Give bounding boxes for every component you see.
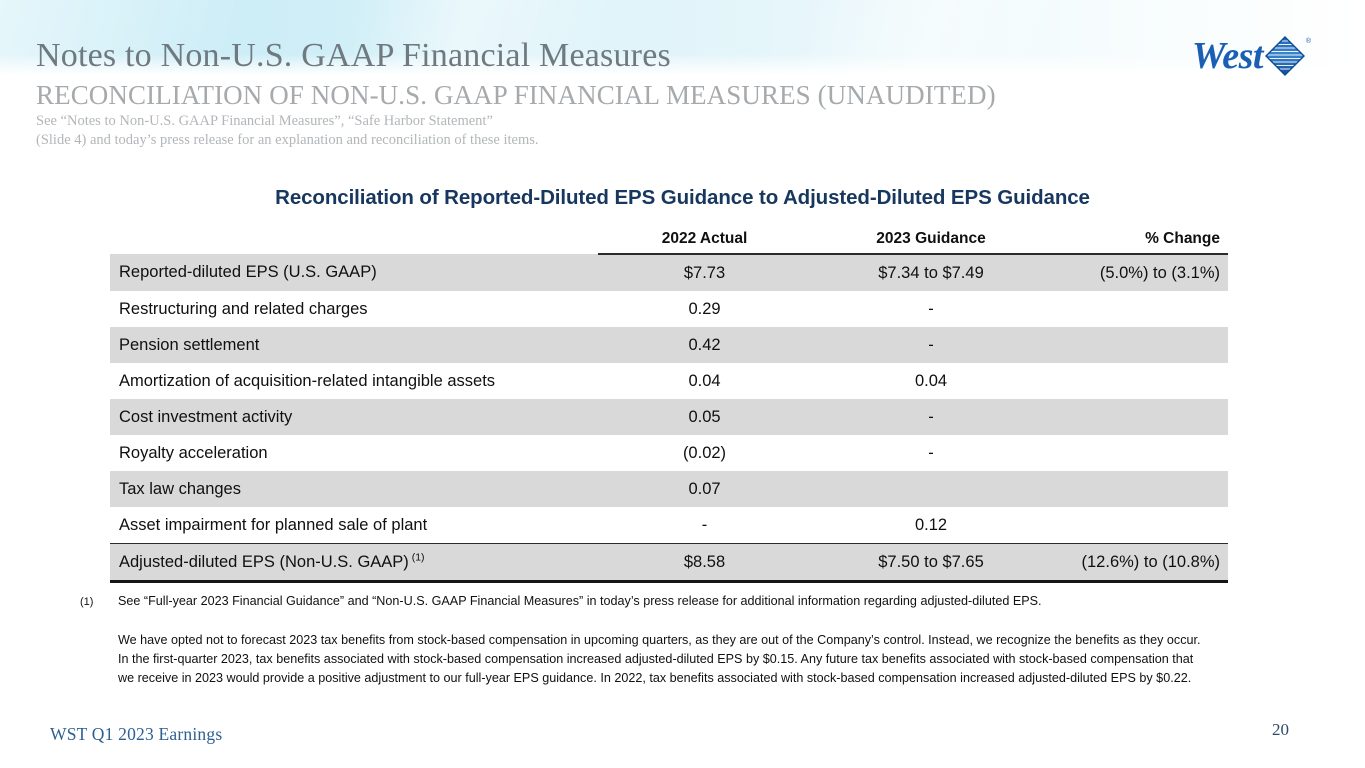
row-label: Restructuring and related charges — [110, 291, 598, 327]
cell-2022-actual: 0.42 — [598, 327, 811, 363]
table-row: Amortization of acquisition-related inta… — [110, 363, 1228, 399]
table-body: Reported-diluted EPS (U.S. GAAP)$7.73$7.… — [110, 254, 1228, 582]
cell-pct-change — [1051, 435, 1228, 471]
cell-2022-actual: 0.04 — [598, 363, 811, 399]
logo-wordmark: West — [1192, 37, 1263, 75]
cell-2022-actual: - — [598, 507, 811, 544]
page-subtitle: RECONCILIATION OF NON-U.S. GAAP FINANCIA… — [36, 80, 996, 110]
table-row: Tax law changes0.07 — [110, 471, 1228, 507]
diamond-icon — [1265, 36, 1305, 76]
table-row: Pension settlement0.42- — [110, 327, 1228, 363]
cell-2023-guidance — [811, 471, 1051, 507]
footnote-marker: (1) — [80, 592, 118, 612]
row-label: Cost investment activity — [110, 399, 598, 435]
column-header-2022-actual: 2022 Actual — [598, 226, 811, 254]
table-row: Restructuring and related charges0.29- — [110, 291, 1228, 327]
cell-2023-guidance: - — [811, 399, 1051, 435]
cell-pct-change — [1051, 399, 1228, 435]
footnote-row: (1) See “Full-year 2023 Financial Guidan… — [80, 592, 1240, 612]
row-label: Royalty acceleration — [110, 435, 598, 471]
row-label: Asset impairment for planned sale of pla… — [110, 507, 598, 544]
cell-pct-change — [1051, 363, 1228, 399]
cell-pct-change — [1051, 507, 1228, 544]
cell-pct-change — [1051, 327, 1228, 363]
cell-2022-actual: 0.07 — [598, 471, 811, 507]
column-header-pct-change: % Change — [1051, 226, 1228, 254]
header-note-line-2: (Slide 4) and today’s press release for … — [36, 131, 539, 150]
cell-2023-guidance: 0.04 — [811, 363, 1051, 399]
cell-2022-actual: $7.73 — [598, 254, 811, 291]
footnote-text: See “Full-year 2023 Financial Guidance” … — [118, 592, 1240, 611]
footnotes: (1) See “Full-year 2023 Financial Guidan… — [80, 592, 1240, 688]
table-row: Asset impairment for planned sale of pla… — [110, 507, 1228, 544]
column-header-blank — [110, 226, 598, 254]
cell-2022-actual: $8.58 — [598, 544, 811, 582]
row-label: Reported-diluted EPS (U.S. GAAP) — [110, 254, 598, 291]
row-label: Adjusted-diluted EPS (Non-U.S. GAAP) (1) — [110, 544, 598, 582]
column-header-2023-guidance: 2023 Guidance — [811, 226, 1051, 254]
table-row: Reported-diluted EPS (U.S. GAAP)$7.73$7.… — [110, 254, 1228, 291]
row-footnote-marker: (1) — [409, 551, 425, 563]
table-header: 2022 Actual 2023 Guidance % Change — [110, 226, 1228, 254]
west-logo: West — [1192, 36, 1305, 76]
cell-pct-change — [1051, 471, 1228, 507]
header-note: See “Notes to Non-U.S. GAAP Financial Me… — [36, 112, 539, 149]
cell-2023-guidance: - — [811, 327, 1051, 363]
cell-pct-change: (5.0%) to (3.1%) — [1051, 254, 1228, 291]
table-row: Adjusted-diluted EPS (Non-U.S. GAAP) (1)… — [110, 544, 1228, 582]
cell-2022-actual: 0.29 — [598, 291, 811, 327]
table-row: Royalty acceleration(0.02)- — [110, 435, 1228, 471]
page-title: Notes to Non-U.S. GAAP Financial Measure… — [36, 37, 671, 75]
cell-2023-guidance: $7.50 to $7.65 — [811, 544, 1051, 582]
cell-pct-change: (12.6%) to (10.8%) — [1051, 544, 1228, 582]
reconciliation-table: 2022 Actual 2023 Guidance % Change Repor… — [110, 226, 1228, 583]
table-title: Reconciliation of Reported-Diluted EPS G… — [0, 186, 1365, 210]
cell-pct-change — [1051, 291, 1228, 327]
row-label: Amortization of acquisition-related inta… — [110, 363, 598, 399]
cell-2023-guidance: $7.34 to $7.49 — [811, 254, 1051, 291]
reconciliation-table-wrapper: 2022 Actual 2023 Guidance % Change Repor… — [110, 226, 1228, 583]
row-label: Tax law changes — [110, 471, 598, 507]
cell-2023-guidance: - — [811, 435, 1051, 471]
cell-2022-actual: 0.05 — [598, 399, 811, 435]
cell-2023-guidance: - — [811, 291, 1051, 327]
footnote-paragraph: We have opted not to forecast 2023 tax b… — [118, 631, 1210, 688]
row-label: Pension settlement — [110, 327, 598, 363]
table-header-row: 2022 Actual 2023 Guidance % Change — [110, 226, 1228, 254]
header-note-line-1: See “Notes to Non-U.S. GAAP Financial Me… — [36, 112, 539, 131]
cell-2022-actual: (0.02) — [598, 435, 811, 471]
trademark-icon: ® — [1306, 38, 1311, 45]
page-number: 20 — [1272, 720, 1289, 740]
footer-label: WST Q1 2023 Earnings — [50, 724, 222, 745]
cell-2023-guidance: 0.12 — [811, 507, 1051, 544]
table-row: Cost investment activity0.05- — [110, 399, 1228, 435]
